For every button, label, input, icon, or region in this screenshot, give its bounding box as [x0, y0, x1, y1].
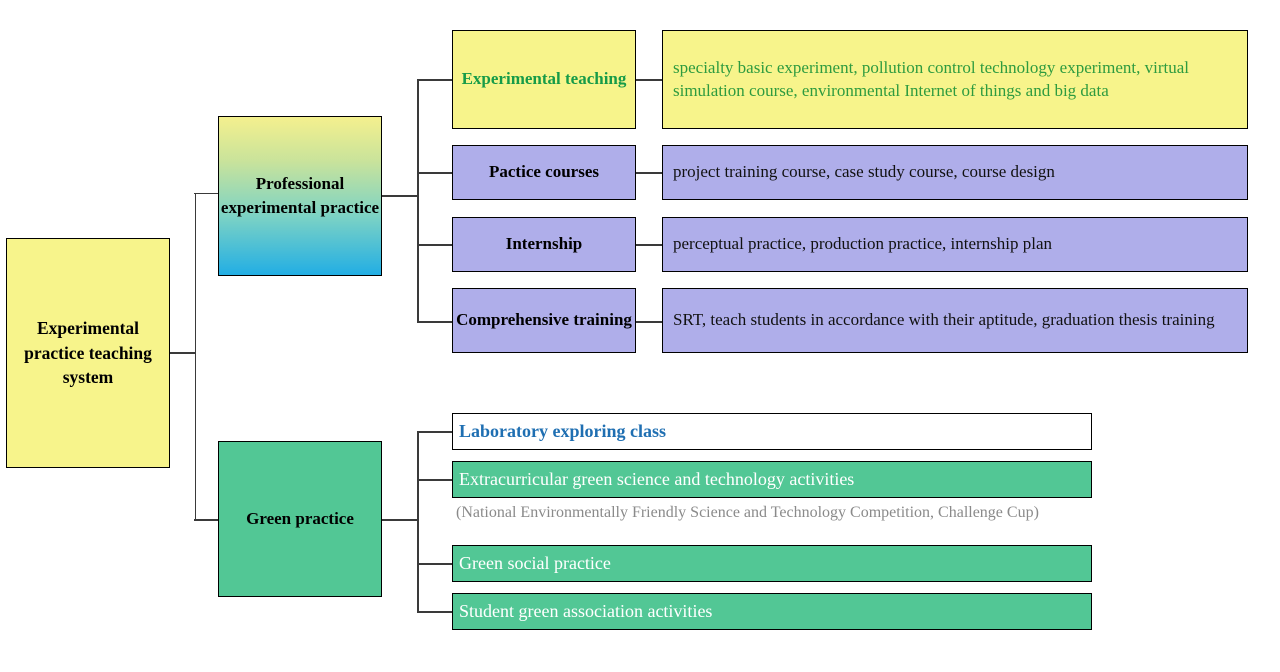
connector-professional-stub	[382, 195, 418, 197]
label-practice-courses[interactable]: Pactice courses	[452, 145, 636, 200]
connector-to-experimental-teaching	[417, 79, 452, 81]
content-experimental-teaching: specialty basic experiment, pollution co…	[662, 30, 1248, 129]
connector-to-practice-courses	[417, 172, 452, 174]
green-extracurricular-note: (National Environmentally Friendly Scien…	[456, 504, 1256, 522]
diagram-canvas: Experimental practice teaching system Pr…	[0, 0, 1280, 672]
connector-to-lab-class	[417, 431, 452, 433]
connector-internship-label-to-content	[636, 244, 662, 246]
label-experimental-teaching[interactable]: Experimental teaching	[452, 30, 636, 129]
connector-green-bus	[417, 431, 419, 612]
branch-node-professional[interactable]: Professional experimental practice	[218, 116, 382, 276]
content-comprehensive-training: SRT, teach students in accordance with t…	[662, 288, 1248, 353]
connector-green-stub	[382, 519, 418, 521]
connector-to-professional	[194, 193, 218, 195]
connector-root-stub	[170, 352, 196, 354]
connector-to-extracurricular	[417, 479, 452, 481]
connector-to-internship	[417, 244, 452, 246]
green-item-student-green-association[interactable]: Student green association activities	[452, 593, 1092, 630]
connector-to-green	[194, 519, 218, 521]
connector-root-bus	[195, 193, 197, 520]
connector-professional-bus	[417, 79, 419, 322]
branch-node-green[interactable]: Green practice	[218, 441, 382, 597]
connector-to-green-social	[417, 563, 452, 565]
green-item-extracurricular-activities[interactable]: Extracurricular green science and techno…	[452, 461, 1092, 498]
label-comprehensive-training[interactable]: Comprehensive training	[452, 288, 636, 353]
content-practice-courses: project training course, case study cour…	[662, 145, 1248, 200]
connector-to-comprehensive-training	[417, 321, 452, 323]
green-item-laboratory-exploring-class[interactable]: Laboratory exploring class	[452, 413, 1092, 450]
label-internship[interactable]: Internship	[452, 217, 636, 272]
green-item-green-social-practice[interactable]: Green social practice	[452, 545, 1092, 582]
content-internship: perceptual practice, production practice…	[662, 217, 1248, 272]
connector-to-student-association	[417, 611, 452, 613]
connector-exp-label-to-content	[636, 79, 662, 81]
connector-comp-label-to-content	[636, 321, 662, 323]
root-node[interactable]: Experimental practice teaching system	[6, 238, 170, 468]
connector-practice-label-to-content	[636, 172, 662, 174]
